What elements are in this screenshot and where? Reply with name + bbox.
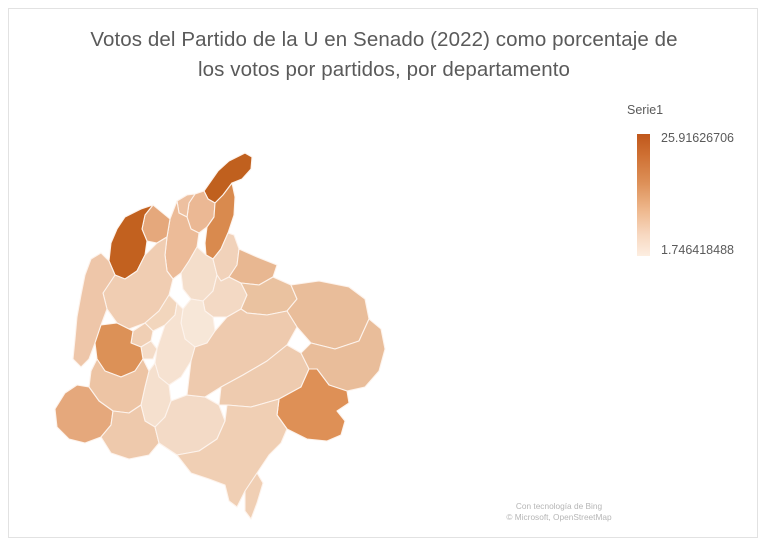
chart-title-line-1: Votos del Partido de la U en Senado (202… [49,25,719,55]
attribution-line-2: © Microsoft, OpenStreetMap [464,512,654,523]
legend-min-value: 1.746418488 [661,243,734,257]
attribution-line-1: Con tecnología de Bing [464,501,654,512]
region-vichada[interactable] [287,281,369,349]
legend: Serie1 25.91626706 1.746418488 [621,103,761,275]
chart-title-line-2: los votos por partidos, por departamento [49,55,719,85]
choropleth-map[interactable] [29,99,609,539]
legend-color-gradient [637,134,650,256]
legend-title: Serie1 [627,103,663,117]
colombia-map-svg[interactable] [29,99,609,539]
chart-title: Votos del Partido de la U en Senado (202… [49,25,719,85]
chart-frame: Votos del Partido de la U en Senado (202… [8,8,758,538]
legend-max-value: 25.91626706 [661,131,734,145]
map-attribution: Con tecnología de Bing © Microsoft, Open… [464,501,654,523]
